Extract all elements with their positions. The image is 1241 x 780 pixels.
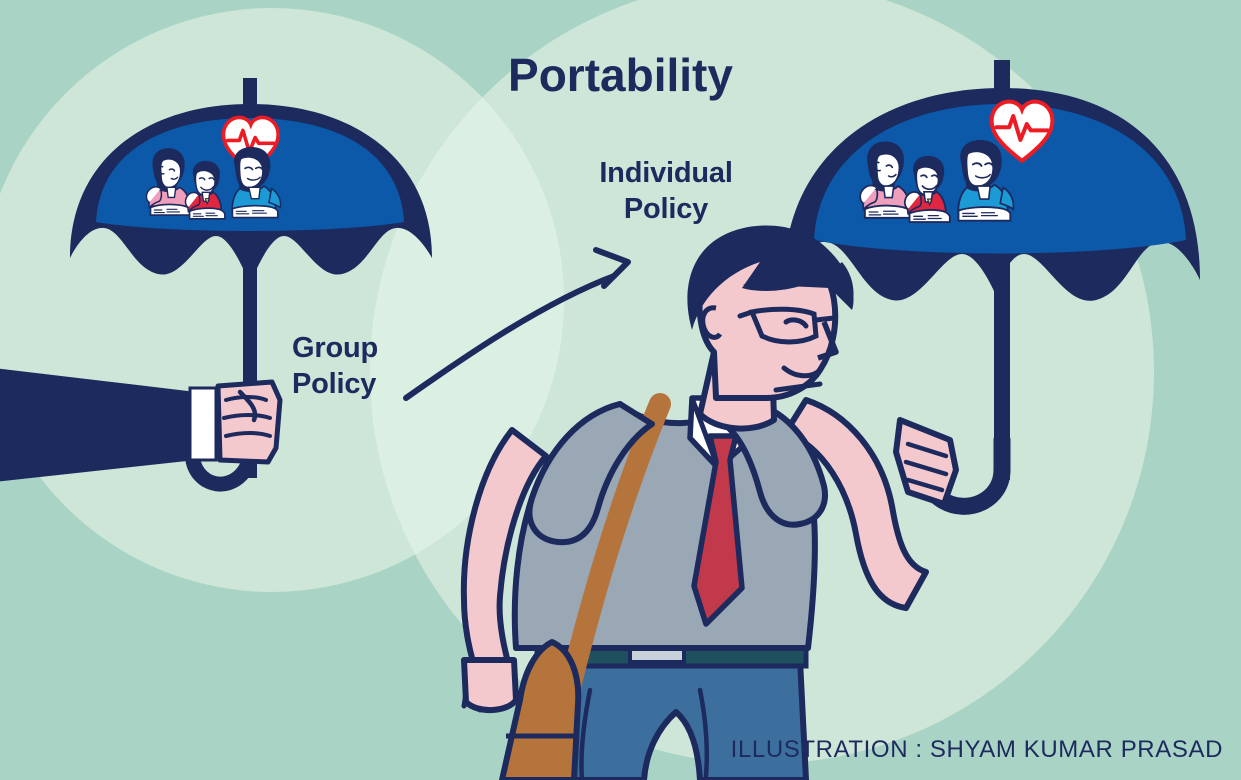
label-group-policy-line1: Group [292, 330, 432, 366]
label-group-policy-line2: Policy [292, 366, 432, 402]
illustration-credit: ILLUSTRATION : SHYAM KUMAR PRASAD [731, 736, 1223, 764]
label-individual-policy-line1: Individual [566, 155, 766, 191]
label-individual-policy: Individual Policy [566, 155, 766, 228]
corporate-fist [218, 382, 280, 462]
page-title: Portability [0, 48, 1241, 102]
label-group-policy: Group Policy [292, 330, 432, 403]
man-back-hand [464, 660, 516, 710]
illustration-canvas: Portability Individual Policy Group Poli… [0, 0, 1241, 780]
portability-illustration-svg [0, 0, 1241, 780]
label-individual-policy-line2: Policy [566, 191, 766, 227]
shirt-cuff [190, 388, 216, 460]
